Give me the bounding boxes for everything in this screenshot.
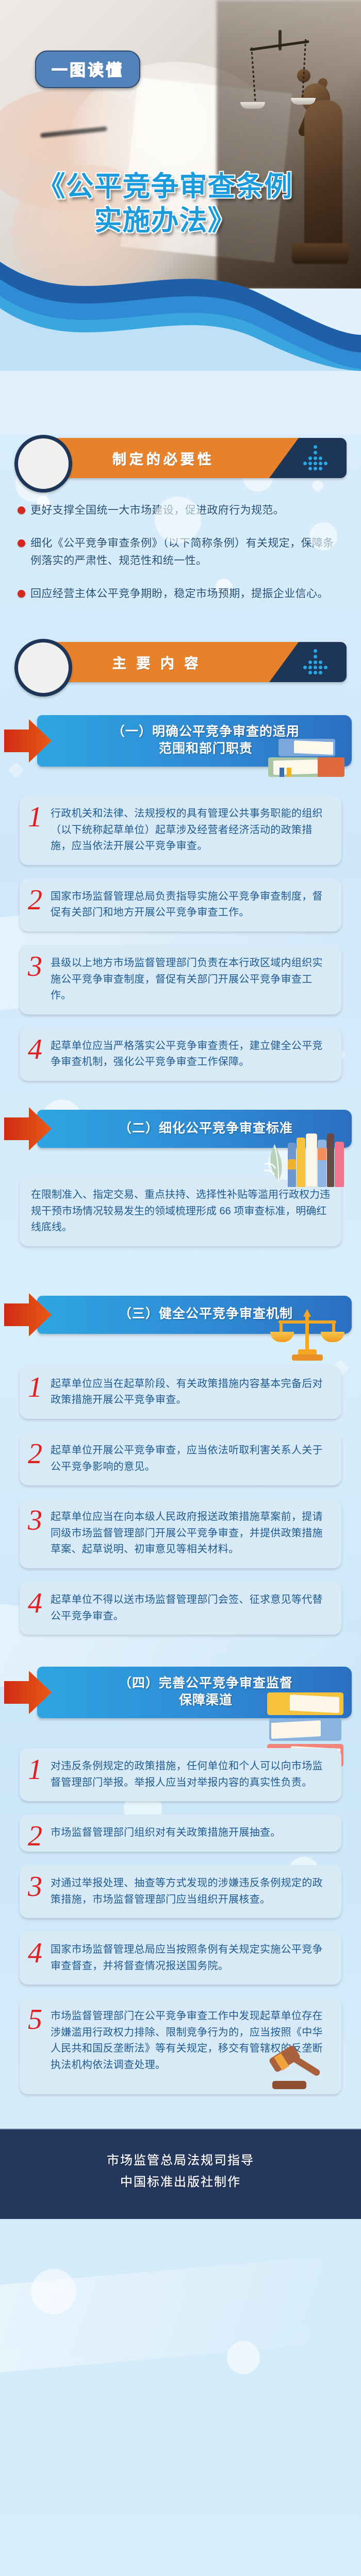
card-number: 2 (28, 886, 42, 914)
section-header-necessity: 制定的必要性 (14, 435, 347, 484)
card-number: 2 (28, 1822, 42, 1851)
arrow-down-dots-icon (300, 649, 329, 675)
card-number: 4 (28, 1035, 42, 1064)
part-three-title: （三）健全公平竞争审查机制 (119, 1306, 293, 1323)
bullet-text: 更好支撑全国统一大市场建设，促进政府行为规范。 (30, 502, 284, 519)
numbered-card: 3 县级以上地方市场监督管理部门负责在本行政区域内组织实施公平竞争审查制度，督促… (20, 945, 341, 1014)
part-two-banner: （二）细化公平竞争审查标准 (3, 1110, 352, 1148)
footer-line-1: 市场监管总局法规司指导 (0, 2150, 361, 2172)
arrow-down-dots-icon (300, 445, 329, 471)
red-arrow-icon (3, 1290, 53, 1340)
section-icon-circle (14, 435, 72, 493)
section-header-title: 主 要 内 容 (112, 652, 264, 672)
list-item: 细化《公平竞争审查条例》（以下简称条例）有关规定，保障条例落实的严肃性、规范性和… (18, 535, 343, 570)
card-number: 1 (28, 1755, 42, 1784)
bullet-dot-icon (18, 590, 25, 598)
bullet-text: 回应经营主体公平竞争期盼，稳定市场预期，提振企业信心。 (30, 585, 329, 603)
card-text: 县级以上地方市场监督管理部门负责在本行政区域内组织实施公平竞争审查制度，督促有关… (51, 955, 330, 1004)
card-text: 起草单位应当在起草阶段、有关政策措施内容基本完备后对政策措施开展公平竞争审查。 (51, 1376, 330, 1409)
page-title-line2: 实施办法》 (0, 204, 330, 238)
card-text: 起草单位应当严格落实公平竞争审查责任，建立健全公平竞争审查机制，强化公平竞争审查… (51, 1038, 330, 1071)
part-two-body-text: 在限制准入、指定交易、重点扶持、选择性补贴等滥用行政权力违规干预市场情况较易发生… (31, 1189, 330, 1233)
bullet-dot-icon (18, 539, 25, 547)
section-header-title: 制定的必要性 (112, 448, 264, 468)
bokeh-decoration (31, 2269, 76, 2314)
card-number: 3 (28, 952, 42, 981)
bullet-text: 细化《公平竞争审查条例》（以下简称条例）有关规定，保障条例落实的严肃性、规范性和… (30, 535, 343, 570)
bokeh-decoration (227, 2341, 260, 2374)
footer-bar: 市场监管总局法规司指导 中国标准出版社制作 (0, 2128, 361, 2219)
page-title: 《公平竞争审查条例 实施办法》 (0, 170, 330, 238)
hero-banner: 一图读懂 《公平竞争审查条例 实施办法》 (0, 0, 361, 289)
list-item: 回应经营主体公平竞争期盼，稳定市场预期，提振企业信心。 (18, 585, 343, 603)
numbered-card: 2 市场监督管理部门组织对有关政策措施开展抽查。 (20, 1815, 341, 1852)
card-text: 对通过举报处理、抽查等方式发现的涉嫌违反条例规定的政策措施，市场监督管理部门应当… (51, 1875, 330, 1908)
section-header-main-content: 主 要 内 容 (14, 639, 347, 688)
balance-scale-icon (276, 1309, 338, 1366)
card-text: 国家市场监督管理总局应当按照条例有关规定实施公平竞争审查督查，并将督查情况报送国… (51, 1942, 330, 1974)
card-text: 起草单位应当在向本级人民政府报送政策措施草案前，提请同级市场监督管理部门开展公平… (51, 1509, 330, 1558)
list-item: 更好支撑全国统一大市场建设，促进政府行为规范。 (18, 502, 343, 519)
card-text: 国家市场监督管理总局负责指导实施公平竞争审查制度，督促有关部门和地方开展公平竞争… (51, 889, 330, 921)
card-text: 起草单位不得以送市场监督管理部门会签、征求意见等代替公平竞争审查。 (51, 1592, 330, 1624)
card-number: 4 (28, 1939, 42, 1968)
necessity-bullet-list: 更好支撑全国统一大市场建设，促进政府行为规范。 细化《公平竞争审查条例》（以下简… (18, 502, 343, 603)
numbered-card: 1 行政机关和法律、法规授权的具有管理公共事务职能的组织（以下统称起草单位）起草… (20, 795, 341, 865)
card-text: 对违反条例规定的政策措施，任何单位和个人可以向市场监督管理部门举报。举报人应当对… (51, 1758, 330, 1791)
numbered-card: 3 对通过举报处理、抽查等方式发现的涉嫌违反条例规定的政策措施，市场监督管理部门… (20, 1865, 341, 1918)
part-four-title-line1: （四）完善公平竞争审查监督 (119, 1675, 293, 1692)
numbered-card: 4 起草单位应当严格落实公平竞争审查责任，建立健全公平竞争审查机制，强化公平竞争… (20, 1028, 341, 1081)
yitu-dudong-badge: 一图读懂 (35, 50, 140, 88)
card-number: 3 (28, 1506, 42, 1535)
part-three-banner: （三）健全公平竞争审查机制 (3, 1296, 352, 1334)
card-number: 3 (28, 1872, 42, 1901)
card-number: 4 (28, 1589, 42, 1618)
card-text: 市场监督管理部门组织对有关政策措施开展抽查。 (51, 1825, 330, 1841)
card-text: 起草单位开展公平竞争审查，应当依法听取利害关系人关于公平竞争影响的意见。 (51, 1443, 330, 1475)
numbered-card: 4 起草单位不得以送市场监督管理部门会签、征求意见等代替公平竞争审查。 (20, 1582, 341, 1635)
part-one-banner: （一）明确公平竞争审查的适用 范围和部门职责 (3, 715, 352, 767)
part-two-body-card: 在限制准入、指定交易、重点扶持、选择性补贴等滥用行政权力违规干预市场情况较易发生… (20, 1177, 341, 1246)
numbered-card: 1 起草单位应当在起草阶段、有关政策措施内容基本完备后对政策措施开展公平竞争审查… (20, 1366, 341, 1419)
card-number: 1 (28, 803, 42, 832)
stacked-books-icon (268, 739, 346, 785)
justice-scales-icon (250, 30, 311, 179)
gavel-icon (267, 2042, 329, 2089)
red-arrow-icon (3, 1668, 53, 1717)
part-one-title-line1: （一）明确公平竞争审查的适用 (112, 723, 300, 740)
card-text: 行政机关和法律、法规授权的具有管理公共事务职能的组织（以下统称起草单位）起草涉及… (51, 806, 330, 855)
numbered-card: 4 国家市场监督管理总局应当按照条例有关规定实施公平竞争审查督查，并将督查情况报… (20, 1931, 341, 1985)
numbered-card: 2 起草单位开展公平竞争审查，应当依法听取利害关系人关于公平竞争影响的意见。 (20, 1432, 341, 1485)
numbered-card: 2 国家市场监督管理总局负责指导实施公平竞争审查制度，督促有关部门和地方开展公平… (20, 878, 341, 931)
numbered-card: 5 市场监督管理部门在公平竞争审查工作中发现起草单位存在涉嫌滥用行政权力排除、限… (20, 1998, 341, 2094)
card-number: 2 (28, 1439, 42, 1468)
part-one-card-list: 1 行政机关和法律、法规授权的具有管理公共事务职能的组织（以下统称起草单位）起草… (20, 795, 341, 1081)
section-icon-circle (14, 639, 72, 697)
bullet-dot-icon (18, 506, 25, 514)
red-arrow-icon (3, 716, 53, 766)
card-number: 5 (28, 2005, 42, 2034)
footer-line-2: 中国标准出版社制作 (0, 2172, 361, 2193)
numbered-card: 1 对违反条例规定的政策措施，任何单位和个人可以向市场监督管理部门举报。举报人应… (20, 1748, 341, 1801)
wave-divider (0, 252, 361, 371)
part-four-banner: （四）完善公平竞争审查监督 保障渠道 (3, 1667, 352, 1718)
part-three-card-list: 1 起草单位应当在起草阶段、有关政策措施内容基本完备后对政策措施开展公平竞争审查… (20, 1366, 341, 1635)
page-title-line1: 《公平竞争审查条例 (38, 171, 293, 202)
red-arrow-icon (3, 1104, 53, 1154)
content-body: 制定的必要性 更好支撑全国统一大市场建设，促进政府行为规范。 细化《公平竞争审查… (0, 435, 361, 2128)
sheen-decoration (0, 2253, 361, 2372)
part-four-card-list: 1 对违反条例规定的政策措施，任何单位和个人可以向市场监督管理部门举报。举报人应… (20, 1748, 341, 2094)
upright-books-icon (264, 1125, 347, 1187)
card-number: 1 (28, 1373, 42, 1402)
infographic-poster: 一图读懂 《公平竞争审查条例 实施办法》 (0, 0, 361, 2576)
numbered-card: 3 起草单位应当在向本级人民政府报送政策措施草案前，提请同级市场监督管理部门开展… (20, 1499, 341, 1568)
